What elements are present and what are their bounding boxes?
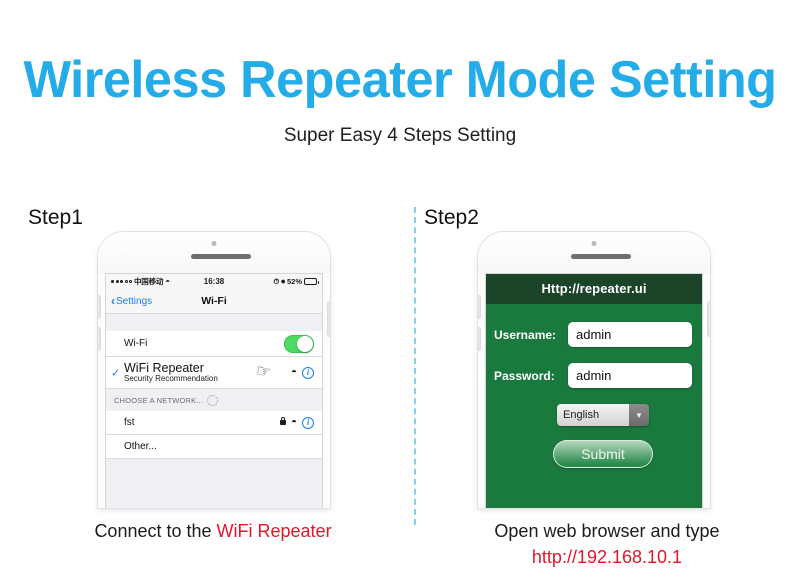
submit-row: Submit (494, 440, 692, 468)
page-title: Wireless Repeater Mode Setting (12, 50, 788, 110)
battery-icon (304, 278, 317, 285)
chevron-left-icon: ‹ (111, 295, 115, 307)
caption2-line2: http://192.168.10.1 (532, 547, 682, 567)
router-login-page: Http://repeater.ui Username: admin Passw… (486, 274, 702, 508)
volume-down-button[interactable] (478, 328, 480, 350)
back-label: Settings (116, 296, 152, 307)
toggle-knob (297, 336, 313, 352)
loading-spinner-icon (207, 395, 218, 406)
power-button[interactable] (708, 302, 710, 336)
caption2-line1: Open web browser and type (494, 521, 719, 541)
network-row-fst[interactable]: fst ◓ i (106, 411, 322, 435)
info-icon[interactable]: i (302, 367, 314, 379)
wifi-icon: ◓ (165, 278, 170, 286)
language-row: English ▼ (494, 404, 692, 426)
step2-caption: Open web browser and type http://192.168… (422, 518, 792, 570)
hand-pointer-icon: ☞ (255, 361, 273, 383)
login-form: Username: admin Password: admin English … (486, 304, 702, 508)
volume-down-button[interactable] (98, 328, 100, 350)
language-selected-value: English (557, 404, 629, 426)
list-spacer (106, 314, 322, 331)
language-select[interactable]: English ▼ (557, 404, 649, 426)
connected-ssid: WiFi Repeater (124, 362, 218, 375)
step1-label: Step1 (28, 206, 83, 230)
page-subtitle: Super Easy 4 Steps Setting (0, 125, 800, 147)
phone-screen-step2: Http://repeater.ui Username: admin Passw… (486, 274, 702, 508)
volume-up-button[interactable] (98, 296, 100, 318)
phone-bezel-top (98, 232, 330, 274)
back-to-settings-button[interactable]: ‹ Settings (106, 295, 152, 307)
phone-mockup-step2: Http://repeater.ui Username: admin Passw… (478, 232, 710, 508)
chevron-down-icon: ▼ (629, 404, 649, 426)
password-label: Password: (494, 369, 568, 383)
submit-button[interactable]: Submit (553, 440, 653, 468)
username-label: Username: (494, 328, 568, 342)
carrier-label: 中国移动 (134, 276, 163, 287)
battery-percent-label: 52% (287, 277, 302, 286)
earpiece-speaker-icon (191, 254, 251, 259)
ios-status-bar: 中国移动 ◓ 16:38 ⏱ ⏺ 52% (106, 274, 322, 289)
poster-root: Wireless Repeater Mode Setting Super Eas… (0, 0, 800, 586)
checkmark-icon: ✓ (111, 366, 120, 379)
network-row-icons: ◓ i (280, 417, 314, 429)
alarm-icon: ⏱ (273, 277, 279, 287)
browser-url-bar[interactable]: Http://repeater.ui (486, 274, 702, 304)
wifi-signal-icon: ◓ (291, 418, 297, 428)
section-divider (414, 207, 416, 525)
connected-network-text: WiFi Repeater Security Recommendation (124, 362, 218, 384)
volume-up-button[interactable] (478, 296, 480, 318)
front-camera-icon (592, 241, 597, 246)
network-ssid: fst (124, 417, 135, 428)
wifi-toggle-label: Wi-Fi (124, 338, 147, 349)
password-row: Password: admin (494, 363, 692, 388)
wifi-signal-icon: ◓ (291, 368, 297, 378)
wifi-toggle-switch[interactable] (284, 335, 314, 353)
ios-nav-bar: ‹ Settings Wi-Fi (106, 289, 322, 314)
network-row-other[interactable]: Other... (106, 435, 322, 459)
choose-network-label: CHOOSE A NETWORK... (114, 396, 203, 405)
connected-row-icons: ◓ i (291, 367, 314, 379)
username-row: Username: admin (494, 322, 692, 347)
caption1-highlight: WiFi Repeater (217, 521, 332, 541)
connected-network-row[interactable]: ✓ WiFi Repeater Security Recommendation … (106, 357, 322, 389)
connected-ssid-subtitle: Security Recommendation (124, 375, 218, 384)
phone-bezel-top (478, 232, 710, 274)
earpiece-speaker-icon (571, 254, 631, 259)
signal-strength-icon (111, 280, 132, 283)
password-input[interactable]: admin (568, 363, 692, 388)
other-network-label: Other... (124, 441, 157, 452)
step1-caption: Connect to the WiFi Repeater (18, 518, 408, 544)
rotation-lock-icon: ⏺ (281, 277, 285, 287)
choose-network-header: CHOOSE A NETWORK... (106, 389, 322, 411)
username-input[interactable]: admin (568, 322, 692, 347)
lock-icon (280, 420, 286, 425)
phone-screen-step1: 中国移动 ◓ 16:38 ⏱ ⏺ 52% ‹ Settings Wi-Fi (106, 274, 322, 508)
power-button[interactable] (328, 302, 330, 336)
wifi-toggle-row[interactable]: Wi-Fi (106, 331, 322, 357)
phone-mockup-step1: 中国移动 ◓ 16:38 ⏱ ⏺ 52% ‹ Settings Wi-Fi (98, 232, 330, 508)
front-camera-icon (212, 241, 217, 246)
wifi-settings-list: Wi-Fi ✓ WiFi Repeater Security Recommend… (106, 314, 322, 508)
caption1-prefix: Connect to the (94, 521, 216, 541)
info-icon[interactable]: i (302, 417, 314, 429)
step2-label: Step2 (424, 206, 479, 230)
